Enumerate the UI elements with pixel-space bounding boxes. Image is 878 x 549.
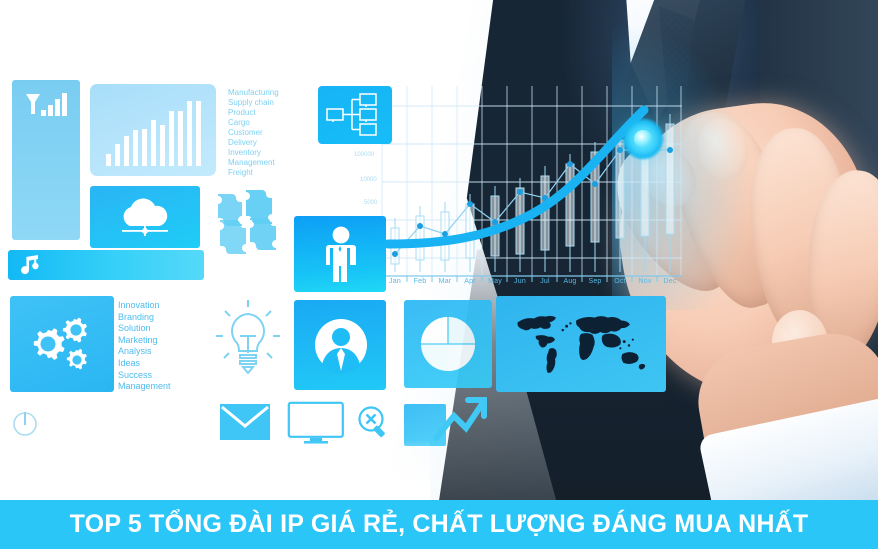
list-item: Innovation bbox=[118, 300, 171, 312]
bar-chart-icon bbox=[106, 98, 202, 166]
lightbulb-icon[interactable] bbox=[214, 300, 282, 386]
arrow-up-icon[interactable] bbox=[432, 398, 484, 442]
pie-chart-icon bbox=[420, 316, 476, 372]
business-keyword-list: Innovation Branding Solution Marketing A… bbox=[118, 300, 171, 393]
panel-businessman[interactable] bbox=[294, 216, 386, 292]
panel-avatar[interactable] bbox=[294, 300, 386, 390]
growth-curve bbox=[388, 110, 644, 244]
gears-icon bbox=[24, 314, 102, 376]
list-item: Customer bbox=[228, 128, 279, 138]
x-tick-label: Apr bbox=[464, 278, 476, 285]
banner-image: Jan Feb Mar Apr May Jun Jul Aug Sep Oct … bbox=[0, 0, 878, 549]
puzzle-pieces-icon[interactable] bbox=[214, 188, 286, 254]
list-item: Analysis bbox=[118, 346, 171, 358]
list-item: Branding bbox=[118, 312, 171, 324]
signal-bars-icon bbox=[24, 92, 68, 128]
list-item: Solution bbox=[118, 323, 171, 335]
power-button-icon[interactable] bbox=[12, 408, 38, 438]
list-item: Supply chain bbox=[228, 98, 279, 108]
network-diagram-icon bbox=[326, 93, 384, 137]
list-item: Manufacturing bbox=[228, 88, 279, 98]
panel-music[interactable] bbox=[8, 250, 204, 280]
title-banner: TOP 5 TỔNG ĐÀI IP GIÁ RẺ, CHẤT LƯỢNG ĐÁN… bbox=[0, 500, 878, 549]
panel-signal[interactable] bbox=[12, 80, 80, 240]
user-avatar-icon bbox=[314, 318, 368, 372]
x-tick-label: Jun bbox=[514, 278, 526, 285]
x-tick-label: Mar bbox=[439, 278, 452, 285]
list-item: Success bbox=[118, 370, 171, 382]
bottom-fade bbox=[0, 440, 430, 500]
panel-gears[interactable] bbox=[10, 296, 114, 392]
supply-chain-list: Manufacturing Supply chain Product Cargo… bbox=[228, 88, 279, 178]
y-tick-label: 10000 bbox=[360, 177, 377, 183]
list-item: Ideas bbox=[118, 358, 171, 370]
list-item: Product bbox=[228, 108, 279, 118]
panel-cloud[interactable] bbox=[90, 186, 200, 248]
monitor-icon[interactable] bbox=[288, 402, 344, 444]
x-tick-label: Sep bbox=[588, 278, 601, 285]
x-tick-label: Dec bbox=[663, 278, 676, 285]
list-item: Cargo bbox=[228, 118, 279, 128]
x-tick-label: Oct bbox=[614, 278, 626, 285]
list-item: Marketing bbox=[118, 335, 171, 347]
banner-title: TOP 5 TỔNG ĐÀI IP GIÁ RẺ, CHẤT LƯỢNG ĐÁN… bbox=[70, 510, 809, 539]
businessman-icon bbox=[322, 226, 360, 284]
panel-world-map[interactable] bbox=[496, 296, 666, 392]
x-tick-label: Nov bbox=[638, 278, 651, 285]
x-tick-label: May bbox=[488, 278, 502, 285]
world-map-icon bbox=[506, 308, 656, 380]
x-tick-label: Jul bbox=[540, 278, 550, 285]
music-note-icon bbox=[16, 255, 42, 277]
panel-pie-chart[interactable] bbox=[404, 300, 492, 388]
cloud-computing-icon bbox=[116, 196, 174, 240]
x-tick-label: Feb bbox=[414, 278, 427, 285]
search-remove-icon[interactable] bbox=[358, 406, 392, 440]
y-tick-label: 100000 bbox=[354, 152, 374, 158]
x-tick-label: Aug bbox=[563, 278, 576, 285]
list-item: Delivery bbox=[228, 138, 279, 148]
list-item: Management bbox=[228, 158, 279, 168]
list-item: Inventory bbox=[228, 148, 279, 158]
x-tick-label: Jan bbox=[389, 278, 401, 285]
glow-touch-point bbox=[634, 130, 652, 148]
list-item: Management bbox=[118, 381, 171, 393]
panel-bar-chart[interactable] bbox=[90, 84, 216, 176]
list-item: Freight bbox=[228, 168, 279, 178]
envelope-icon[interactable] bbox=[220, 404, 270, 442]
panel-network[interactable] bbox=[318, 86, 392, 144]
y-tick-label: 5000 bbox=[364, 200, 377, 206]
